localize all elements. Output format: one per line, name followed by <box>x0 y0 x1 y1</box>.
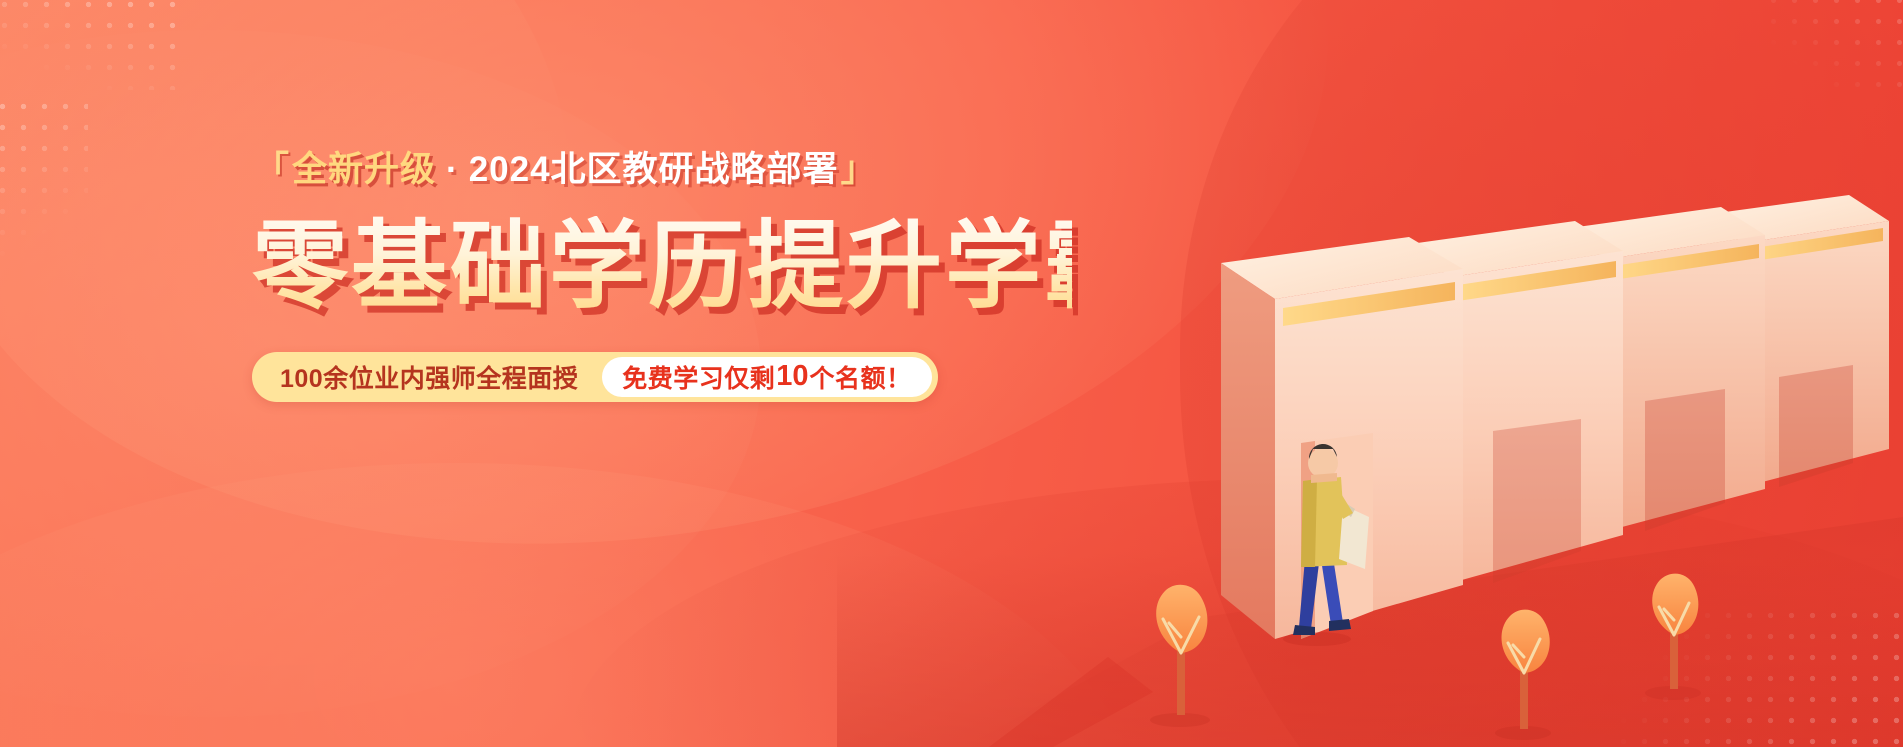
banner-copy: 「全新升级·2024北区教研战略部署」 零基础学历提升学霸班 100余位业内强师… <box>252 148 1072 402</box>
subtitle-rest: 2024北区教研战略部署 <box>469 150 839 189</box>
subtitle-open-bracket: 「 <box>254 150 290 189</box>
promo-banner: 「全新升级·2024北区教研战略部署」 零基础学历提升学霸班 100余位业内强师… <box>0 0 1903 747</box>
subtitle-separator: · <box>446 150 459 189</box>
pill-seats-suffix: 个名额！ <box>810 359 912 395</box>
subtitle-close-bracket: 」 <box>841 150 877 189</box>
pill-seats-prefix: 免费学习仅剩 <box>622 359 775 395</box>
banner-highlight-pill[interactable]: 100余位业内强师全程面授 免费学习仅剩10个名额！ <box>252 352 938 402</box>
pill-seats-badge: 免费学习仅剩10个名额！ <box>602 357 931 397</box>
book-arch-1 <box>1221 237 1463 639</box>
pill-teachers-label: 100余位业内强师全程面授 <box>280 359 602 395</box>
banner-subtitle: 「全新升级·2024北区教研战略部署」 <box>252 148 1072 192</box>
pill-seats-count: 10 <box>775 360 809 393</box>
subtitle-highlight: 全新升级 <box>292 150 436 189</box>
banner-title: 零基础学历提升学霸班 <box>252 216 1072 318</box>
